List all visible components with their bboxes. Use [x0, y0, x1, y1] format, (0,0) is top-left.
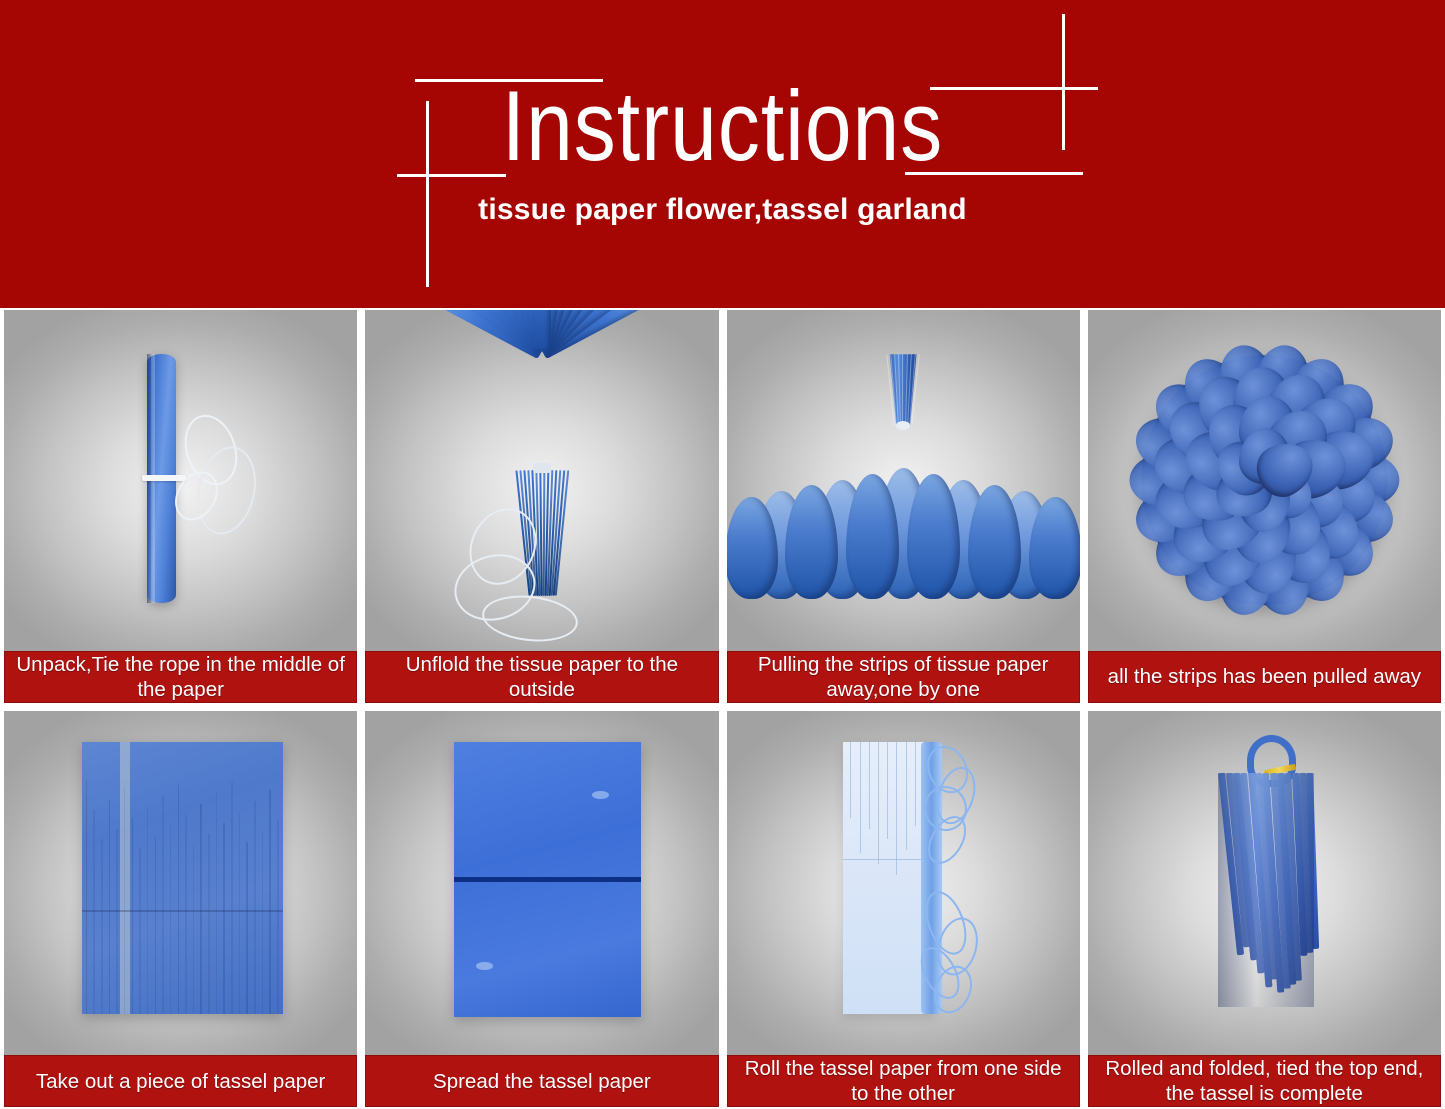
pale-fringe-cut	[887, 742, 888, 840]
step-tile-7: Roll the tassel paper from one side to t…	[727, 711, 1080, 1108]
header-banner: Instructions tissue paper flower,tassel …	[0, 0, 1445, 308]
step-photo-5	[4, 711, 357, 1056]
tassel-paper-sheet	[82, 742, 283, 1014]
pale-fringe-cut	[906, 742, 907, 851]
pale-fringe-cut	[869, 742, 870, 829]
step-caption-4: all the strips has been pulled away	[1088, 651, 1441, 703]
step-caption-6: Spread the tassel paper	[365, 1055, 718, 1107]
step-tile-3: Pulling the strips of tissue paper away,…	[727, 310, 1080, 703]
step-caption-8: Rolled and folded, tied the top end, the…	[1088, 1055, 1441, 1107]
fringe-cut	[200, 804, 202, 1014]
fringe-cut	[246, 842, 248, 1013]
pale-fringe-cut	[915, 742, 916, 826]
fringe-cut	[109, 799, 111, 1014]
step-tile-4: all the strips has been pulled away	[1088, 310, 1441, 703]
finished-pompom-illustration	[1088, 310, 1441, 651]
step-photo-8	[1088, 711, 1441, 1056]
pale-fringe-cut	[878, 742, 879, 864]
spread-tassel-sheet	[454, 742, 641, 1018]
paper-highlight-1	[592, 791, 609, 799]
stem-pleat	[898, 354, 901, 426]
step-photo-7	[727, 711, 1080, 1056]
fan-petal	[533, 310, 551, 351]
fringe-cut	[193, 845, 195, 1014]
paper-highlight-2	[476, 962, 493, 970]
step-caption-2: Unflold the tissue paper to the outside	[365, 651, 718, 703]
fringe-cut	[124, 788, 126, 1014]
fringe-cut	[208, 834, 210, 1014]
finished-tassel-illustration	[1088, 711, 1441, 1056]
fringe-cut	[223, 823, 225, 1013]
pale-fringe-cut	[860, 742, 861, 854]
string-trail-3	[480, 591, 580, 646]
fringe-cut	[132, 818, 134, 1014]
fringe-cut	[155, 837, 157, 1014]
pompom-ball	[1134, 347, 1395, 613]
step-tile-1: Unpack,Tie the rope in the middle of the…	[4, 310, 357, 703]
sheet-fold-line	[82, 910, 283, 912]
fringe-cut	[269, 790, 271, 1013]
page-title: Instructions	[0, 76, 1445, 175]
step-photo-3	[727, 310, 1080, 651]
fringe-cut	[185, 815, 187, 1014]
fanned-tissue-petals-illustration	[365, 310, 718, 651]
fringe-cut	[139, 848, 141, 1014]
page-subtitle: tissue paper flower,tassel garland	[0, 193, 1445, 227]
steps-row-top: Unpack,Tie the rope in the middle of the…	[0, 308, 1445, 709]
stem-pleat-lines	[887, 354, 919, 426]
instruction-sheet: Instructions tissue paper flower,tassel …	[0, 0, 1445, 1109]
stem-pleat	[902, 354, 903, 426]
flat-fringed-sheet-illustration	[4, 711, 357, 1056]
tassel-fringe-body	[1218, 773, 1313, 1007]
fringe-cut	[116, 829, 118, 1014]
step-photo-4	[1088, 310, 1441, 651]
pompom-skirt	[727, 422, 1080, 599]
step-caption-1: Unpack,Tie the rope in the middle of the…	[4, 651, 357, 703]
fringe-cut	[86, 780, 88, 1014]
fringe-cut	[101, 839, 103, 1013]
fringe-cut	[162, 796, 164, 1014]
fan-waist-tie	[533, 463, 551, 473]
fringe-cut	[239, 812, 241, 1013]
pale-fringe-cut	[850, 742, 851, 818]
folded-tissue-bundle-with-string-illustration	[4, 310, 357, 651]
step-photo-1	[4, 310, 357, 651]
pale-fringe-cut	[896, 742, 897, 875]
step-caption-3: Pulling the strips of tissue paper away,…	[727, 651, 1080, 703]
step-tile-2: Unflold the tissue paper to the outside	[365, 310, 718, 703]
spread-sheet-illustration	[365, 711, 718, 1056]
fringe-cut	[254, 801, 256, 1013]
fringe-cut	[277, 820, 279, 1013]
step-caption-5: Take out a piece of tassel paper	[4, 1055, 357, 1107]
steps-grid: Unpack,Tie the rope in the middle of the…	[0, 308, 1445, 1109]
fringe-cut	[231, 782, 233, 1013]
steps-row-bottom: Take out a piece of tassel paper Spread …	[0, 709, 1445, 1109]
rolled-tassel-paper-illustration	[727, 711, 1080, 1056]
step-caption-7: Roll the tassel paper from one side to t…	[727, 1055, 1080, 1107]
step-photo-2	[365, 310, 718, 651]
step-tile-8: Rolled and folded, tied the top end, the…	[1088, 711, 1441, 1108]
fringe-cut	[170, 826, 172, 1014]
fringe-cut	[216, 793, 218, 1013]
step-tile-6: Spread the tassel paper	[365, 711, 718, 1108]
fringe-cut	[178, 785, 180, 1014]
step-photo-6	[365, 711, 718, 1056]
center-fold-crease	[454, 877, 641, 882]
half-opened-pompom-illustration	[727, 310, 1080, 651]
fringe-cut	[262, 831, 264, 1013]
step-tile-5: Take out a piece of tassel paper	[4, 711, 357, 1108]
string-tie-knot	[142, 475, 186, 480]
